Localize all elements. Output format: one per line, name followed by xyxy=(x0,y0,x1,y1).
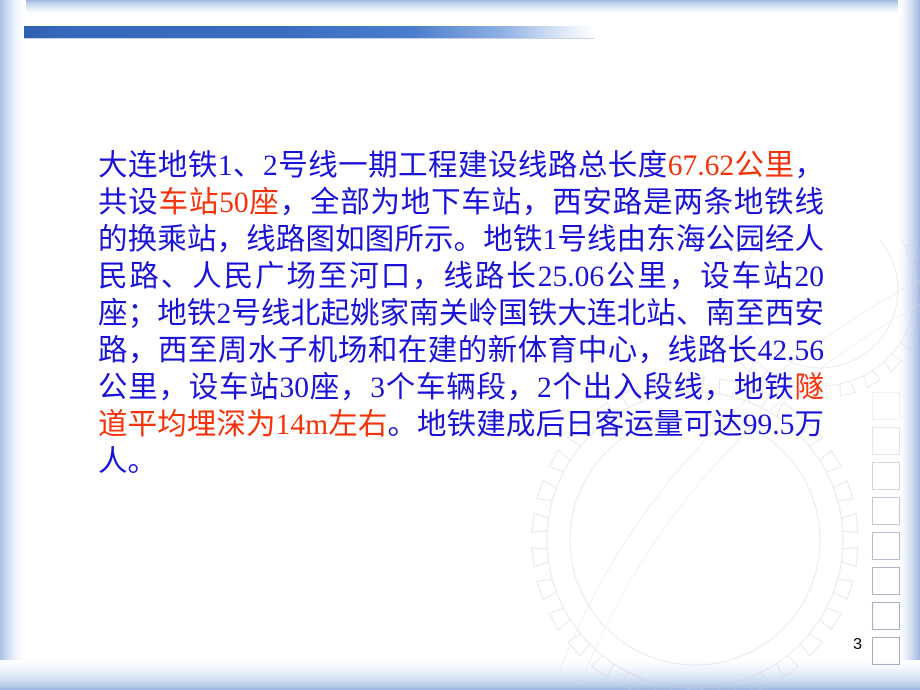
decorative-square xyxy=(872,392,900,420)
text-segment-1: 大连地铁1、2号线一期工程建设线路总长度 xyxy=(98,150,668,182)
text-segment-3: ，全部为地下车站，西安路是两条地铁线的换乘站，线路图如图所示。地铁1号线由东海公… xyxy=(98,187,824,404)
frame-left-edge xyxy=(0,0,26,690)
decorative-square xyxy=(872,567,900,595)
page-number: 3 xyxy=(853,636,862,654)
decorative-square xyxy=(872,637,900,665)
frame-bottom-edge xyxy=(0,660,920,690)
highlight-total-length: 67.62公里 xyxy=(668,150,795,182)
decorative-square xyxy=(872,497,900,525)
decorative-square xyxy=(872,427,900,455)
slide-body-paragraph: 大连地铁1、2号线一期工程建设线路总长度67.62公里，共设车站50座，全部为地… xyxy=(98,148,824,481)
slide-canvas: 大连地铁1、2号线一期工程建设线路总长度67.62公里，共设车站50座，全部为地… xyxy=(0,0,920,690)
decorative-square-column xyxy=(872,392,906,665)
frame-top-edge xyxy=(0,0,920,16)
decorative-square xyxy=(872,462,900,490)
decorative-square xyxy=(872,532,900,560)
frame-right-edge xyxy=(898,0,920,690)
decorative-square xyxy=(872,602,900,630)
title-accent-bar xyxy=(24,26,594,38)
highlight-station-count: 车站50座 xyxy=(159,187,280,219)
